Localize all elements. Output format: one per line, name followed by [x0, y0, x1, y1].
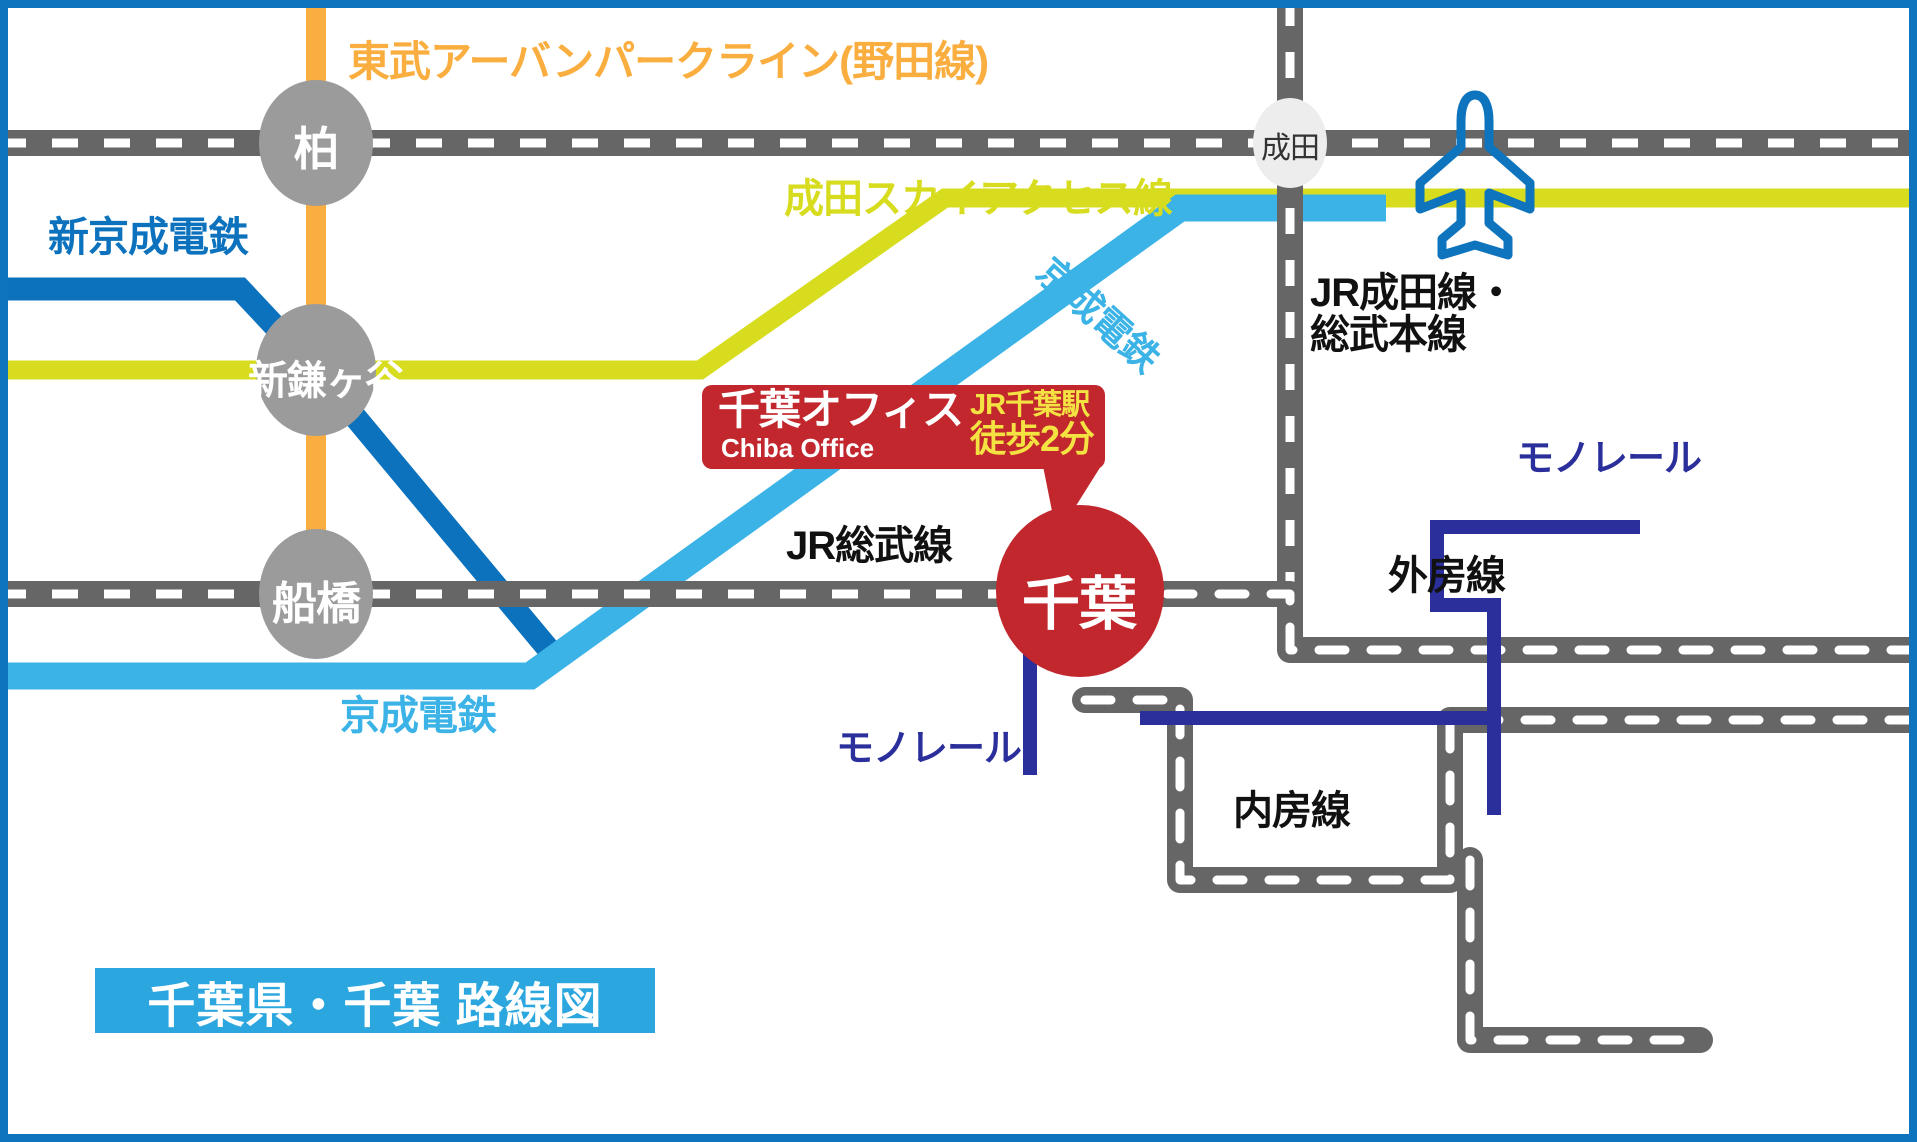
map-title-text: 千葉県・千葉 路線図	[147, 966, 602, 1036]
airplane-icon	[1420, 95, 1530, 255]
callout-office-name-en: Chiba Office	[721, 435, 874, 461]
line-sotobo	[1167, 594, 1917, 650]
callout-badge-line2: 徒歩2分	[970, 421, 1094, 458]
line-label-shin-keisei: 新京成電鉄	[48, 216, 248, 259]
line-label-monorail-bottom: モノレール	[836, 730, 1021, 770]
route-map: 東武アーバンパークライン(野田線) 成田スカイアクセス線 新京成電鉄 京成電鉄 …	[0, 0, 1917, 1142]
line-label-monorail-right: モノレール	[1516, 440, 1701, 480]
callout-tail	[1043, 466, 1123, 538]
station-label-funabashi: 船橋	[255, 567, 377, 632]
callout-office-name-ja: 千葉オフィス	[718, 389, 963, 431]
station-label-shinkamagaya: 新鎌ヶ谷	[248, 348, 384, 406]
line-label-jr-sobu: JR総武線	[786, 525, 952, 567]
chiba-office-callout: 千葉オフィス Chiba Office JR千葉駅 徒歩2分	[702, 385, 1105, 469]
line-label-tobu: 東武アーバンパークライン(野田線)	[348, 40, 988, 84]
callout-badge-line1: JR千葉駅	[970, 391, 1094, 421]
line-uchibo-bottom	[1470, 860, 1700, 1040]
line-label-sotobo: 外房線	[1388, 555, 1505, 597]
station-label-kashiwa: 柏	[259, 113, 373, 179]
station-label-narita: 成田	[1246, 123, 1334, 167]
line-label-jr-narita-line1: JR成田線・	[1310, 272, 1515, 314]
line-label-jr-narita-line2: 総武本線	[1310, 314, 1515, 356]
station-label-chiba: 千葉	[1000, 557, 1158, 641]
line-label-uchibo: 内房線	[1233, 790, 1350, 832]
line-label-keisei-bottom: 京成電鉄	[340, 695, 496, 737]
callout-access-badge: JR千葉駅 徒歩2分	[970, 391, 1094, 457]
line-label-narita-sky-access: 成田スカイアクセス線	[784, 178, 1172, 220]
map-title-banner: 千葉県・千葉 路線図	[95, 968, 655, 1033]
line-label-jr-narita-sobu: JR成田線・ 総武本線	[1310, 272, 1515, 356]
